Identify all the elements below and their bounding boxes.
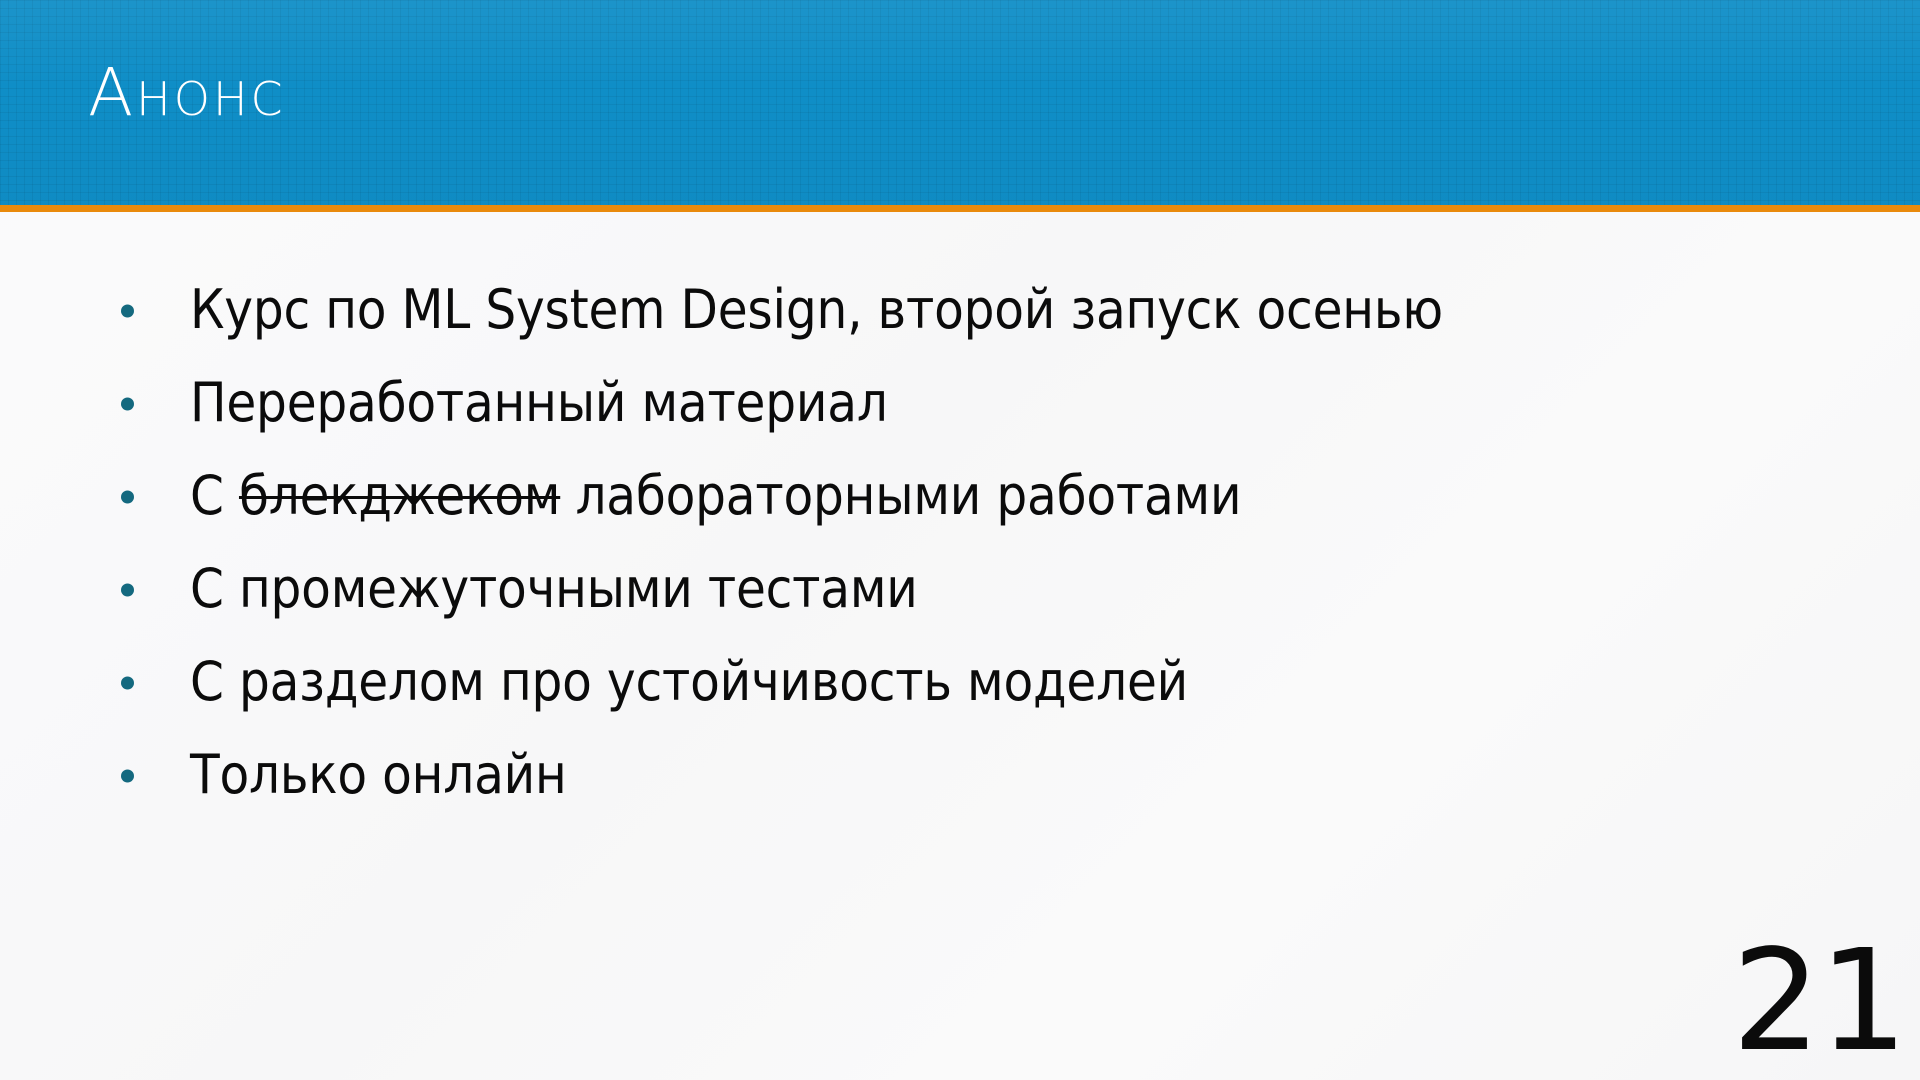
bullet-text-material: Переработанный материал	[190, 375, 888, 432]
list-item: Курс по ML System Design, второй запуск …	[0, 264, 1920, 357]
bullet-text-labs: С блекджеком лабораторными работами	[190, 468, 1241, 525]
bullet-text-robustness: С разделом про устойчивость моделей	[190, 654, 1188, 711]
bullet-dot-icon	[121, 676, 134, 689]
bullet-text-course: Курс по ML System Design, второй запуск …	[190, 282, 1443, 339]
slide-page-number: 21	[1732, 932, 1906, 1072]
bullet-labs-prefix: С	[190, 464, 239, 527]
bullet-labs-rest: лабораторными работами	[560, 464, 1241, 527]
bullet-text-tests: С промежуточными тестами	[190, 561, 918, 618]
bullet-list: Курс по ML System Design, второй запуск …	[0, 264, 1920, 822]
list-item: Только онлайн	[0, 729, 1920, 822]
bullet-dot-icon	[121, 583, 134, 596]
bullet-dot-icon	[121, 490, 134, 503]
bullet-dot-icon	[121, 397, 134, 410]
page-title: Анонс	[88, 60, 286, 126]
presentation-slide: Анонс Курс по ML System Design, второй з…	[0, 0, 1920, 1080]
bullet-dot-icon	[121, 769, 134, 782]
list-item: С блекджеком лабораторными работами	[0, 450, 1920, 543]
bullet-labs-struck-word: блекджеком	[239, 464, 560, 527]
slide-header-band: Анонс	[0, 0, 1920, 205]
bullet-dot-icon	[121, 304, 134, 317]
title-underline-rule	[0, 205, 1920, 212]
list-item: Переработанный материал	[0, 357, 1920, 450]
bullet-text-online: Только онлайн	[190, 747, 567, 804]
list-item: С промежуточными тестами	[0, 543, 1920, 636]
header-sheen-overlay	[0, 0, 1920, 205]
list-item: С разделом про устойчивость моделей	[0, 636, 1920, 729]
